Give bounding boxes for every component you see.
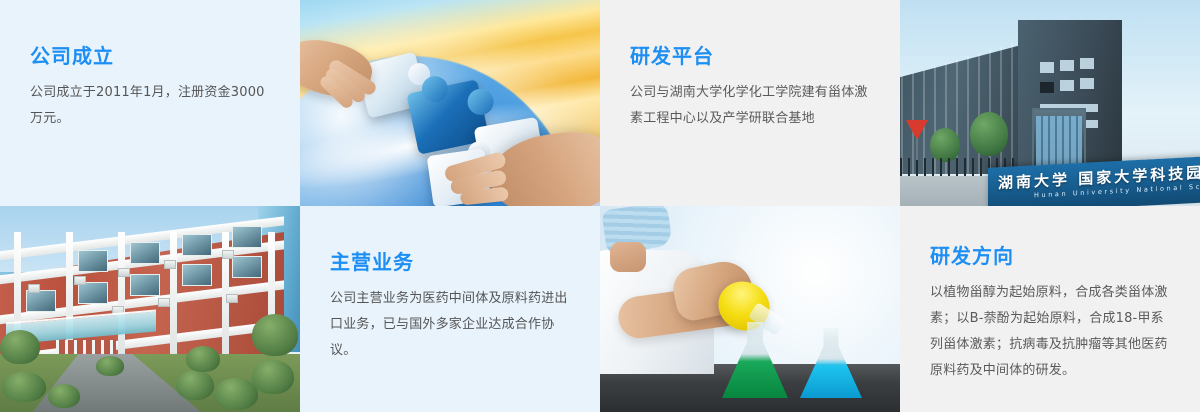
panel-title-rd-direction: 研发方向 <box>930 244 1170 268</box>
chevron-down-notch <box>117 183 183 206</box>
image-cell-lab <box>600 206 900 412</box>
road-sign-post <box>916 138 918 160</box>
panel-rd-platform[interactable]: 研发平台 公司与湖南大学化学化工学院建有甾体激素工程中心以及产学研联合基地 <box>600 0 900 206</box>
image-cell-science-park: 湖南大学 国家大学科技园 Hunan University National S… <box>900 0 1200 206</box>
panel-title-main-business: 主营业务 <box>330 250 570 274</box>
panel-body-main-business: 公司主营业务为医药中间体及原料药进出口业务，已与国外多家企业达成合作协议。 <box>330 286 570 364</box>
entrance-glass-curtain <box>1036 116 1082 166</box>
panel-rd-direction[interactable]: 研发方向 以植物甾醇为起始原料，合成各类甾体激素；以B-萘酚为起始原料，合成18… <box>900 206 1200 412</box>
chevron-up-notch <box>1017 206 1083 229</box>
feature-grid: 公司成立 公司成立于2011年1月，注册资金3000万元。 <box>0 0 1200 412</box>
panel-cell-company-founding: 公司成立 公司成立于2011年1月，注册资金3000万元。 <box>0 0 300 206</box>
panel-body-company-founding: 公司成立于2011年1月，注册资金3000万元。 <box>30 80 270 132</box>
tree-shape <box>930 128 960 162</box>
panel-body-rd-direction: 以植物甾醇为起始原料，合成各类甾体激素；以B-萘酚为起始原料，合成18-甲系列甾… <box>930 280 1170 384</box>
chevron-down-notch <box>717 183 783 206</box>
panel-company-founding[interactable]: 公司成立 公司成立于2011年1月，注册资金3000万元。 <box>0 0 300 206</box>
company-factory-office-building-image <box>0 206 300 412</box>
chevron-up-notch <box>417 206 483 229</box>
image-cell-factory <box>0 206 300 412</box>
laboratory-researcher-pouring-reagent-image <box>600 206 900 412</box>
panel-title-rd-platform: 研发平台 <box>630 44 870 68</box>
hunan-university-national-science-park-building-image: 湖南大学 国家大学科技园 Hunan University National S… <box>900 0 1200 206</box>
panel-cell-rd-platform: 研发平台 公司与湖南大学化学化工学院建有甾体激素工程中心以及产学研联合基地 <box>600 0 900 206</box>
panel-cell-main-business: 主营业务 公司主营业务为医药中间体及原料药进出口业务，已与国外多家企业达成合作协… <box>300 206 600 412</box>
panel-body-rd-platform: 公司与湖南大学化学化工学院建有甾体激素工程中心以及产学研联合基地 <box>630 80 870 132</box>
hands-joining-puzzle-pieces-over-globe-image <box>300 0 600 206</box>
image-cell-puzzle <box>300 0 600 206</box>
panel-title-company-founding: 公司成立 <box>30 44 270 68</box>
researcher-neck <box>610 242 646 272</box>
tree-shape <box>970 112 1008 156</box>
panel-main-business[interactable]: 主营业务 公司主营业务为医药中间体及原料药进出口业务，已与国外多家企业达成合作协… <box>300 206 600 412</box>
panel-cell-rd-direction: 研发方向 以植物甾醇为起始原料，合成各类甾体激素；以B-萘酚为起始原料，合成18… <box>900 206 1200 412</box>
